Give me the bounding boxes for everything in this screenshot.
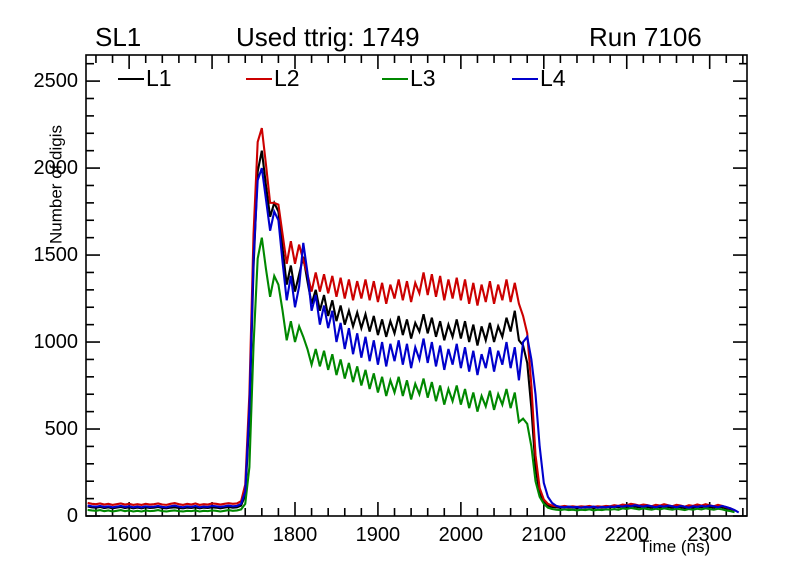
- x-tick-label: 1600: [89, 525, 169, 545]
- legend-label: L3: [410, 67, 436, 90]
- series-line-l4: [88, 168, 739, 512]
- series-line-l3: [88, 238, 735, 513]
- y-tick-label: 0: [8, 506, 78, 526]
- y-tick-label: 2000: [8, 158, 78, 178]
- x-tick-label: 1800: [255, 525, 335, 545]
- x-tick-label: 2200: [587, 525, 667, 545]
- y-tick-label: 1000: [8, 332, 78, 352]
- x-tick-label: 1700: [172, 525, 252, 545]
- legend-swatch-line-icon: [382, 78, 408, 80]
- x-tick-label: 2300: [670, 525, 750, 545]
- series-line-l2: [88, 128, 735, 510]
- plot-area: [0, 0, 796, 572]
- x-tick-label: 2000: [421, 525, 501, 545]
- y-tick-label: 2500: [8, 71, 78, 91]
- legend-label: L4: [540, 67, 566, 90]
- x-tick-label: 2100: [504, 525, 584, 545]
- legend-swatch-line-icon: [118, 78, 144, 80]
- series-line-l1: [88, 151, 735, 511]
- root-canvas: SL1 Used ttrig: 1749 Run 7106 Number of …: [0, 0, 796, 572]
- x-tick-label: 1900: [338, 525, 418, 545]
- legend-swatch-line-icon: [512, 78, 538, 80]
- legend-label: L1: [146, 67, 172, 90]
- legend-swatch-line-icon: [246, 78, 272, 80]
- y-tick-label: 500: [8, 419, 78, 439]
- legend-label: L2: [274, 67, 300, 90]
- y-tick-label: 1500: [8, 245, 78, 265]
